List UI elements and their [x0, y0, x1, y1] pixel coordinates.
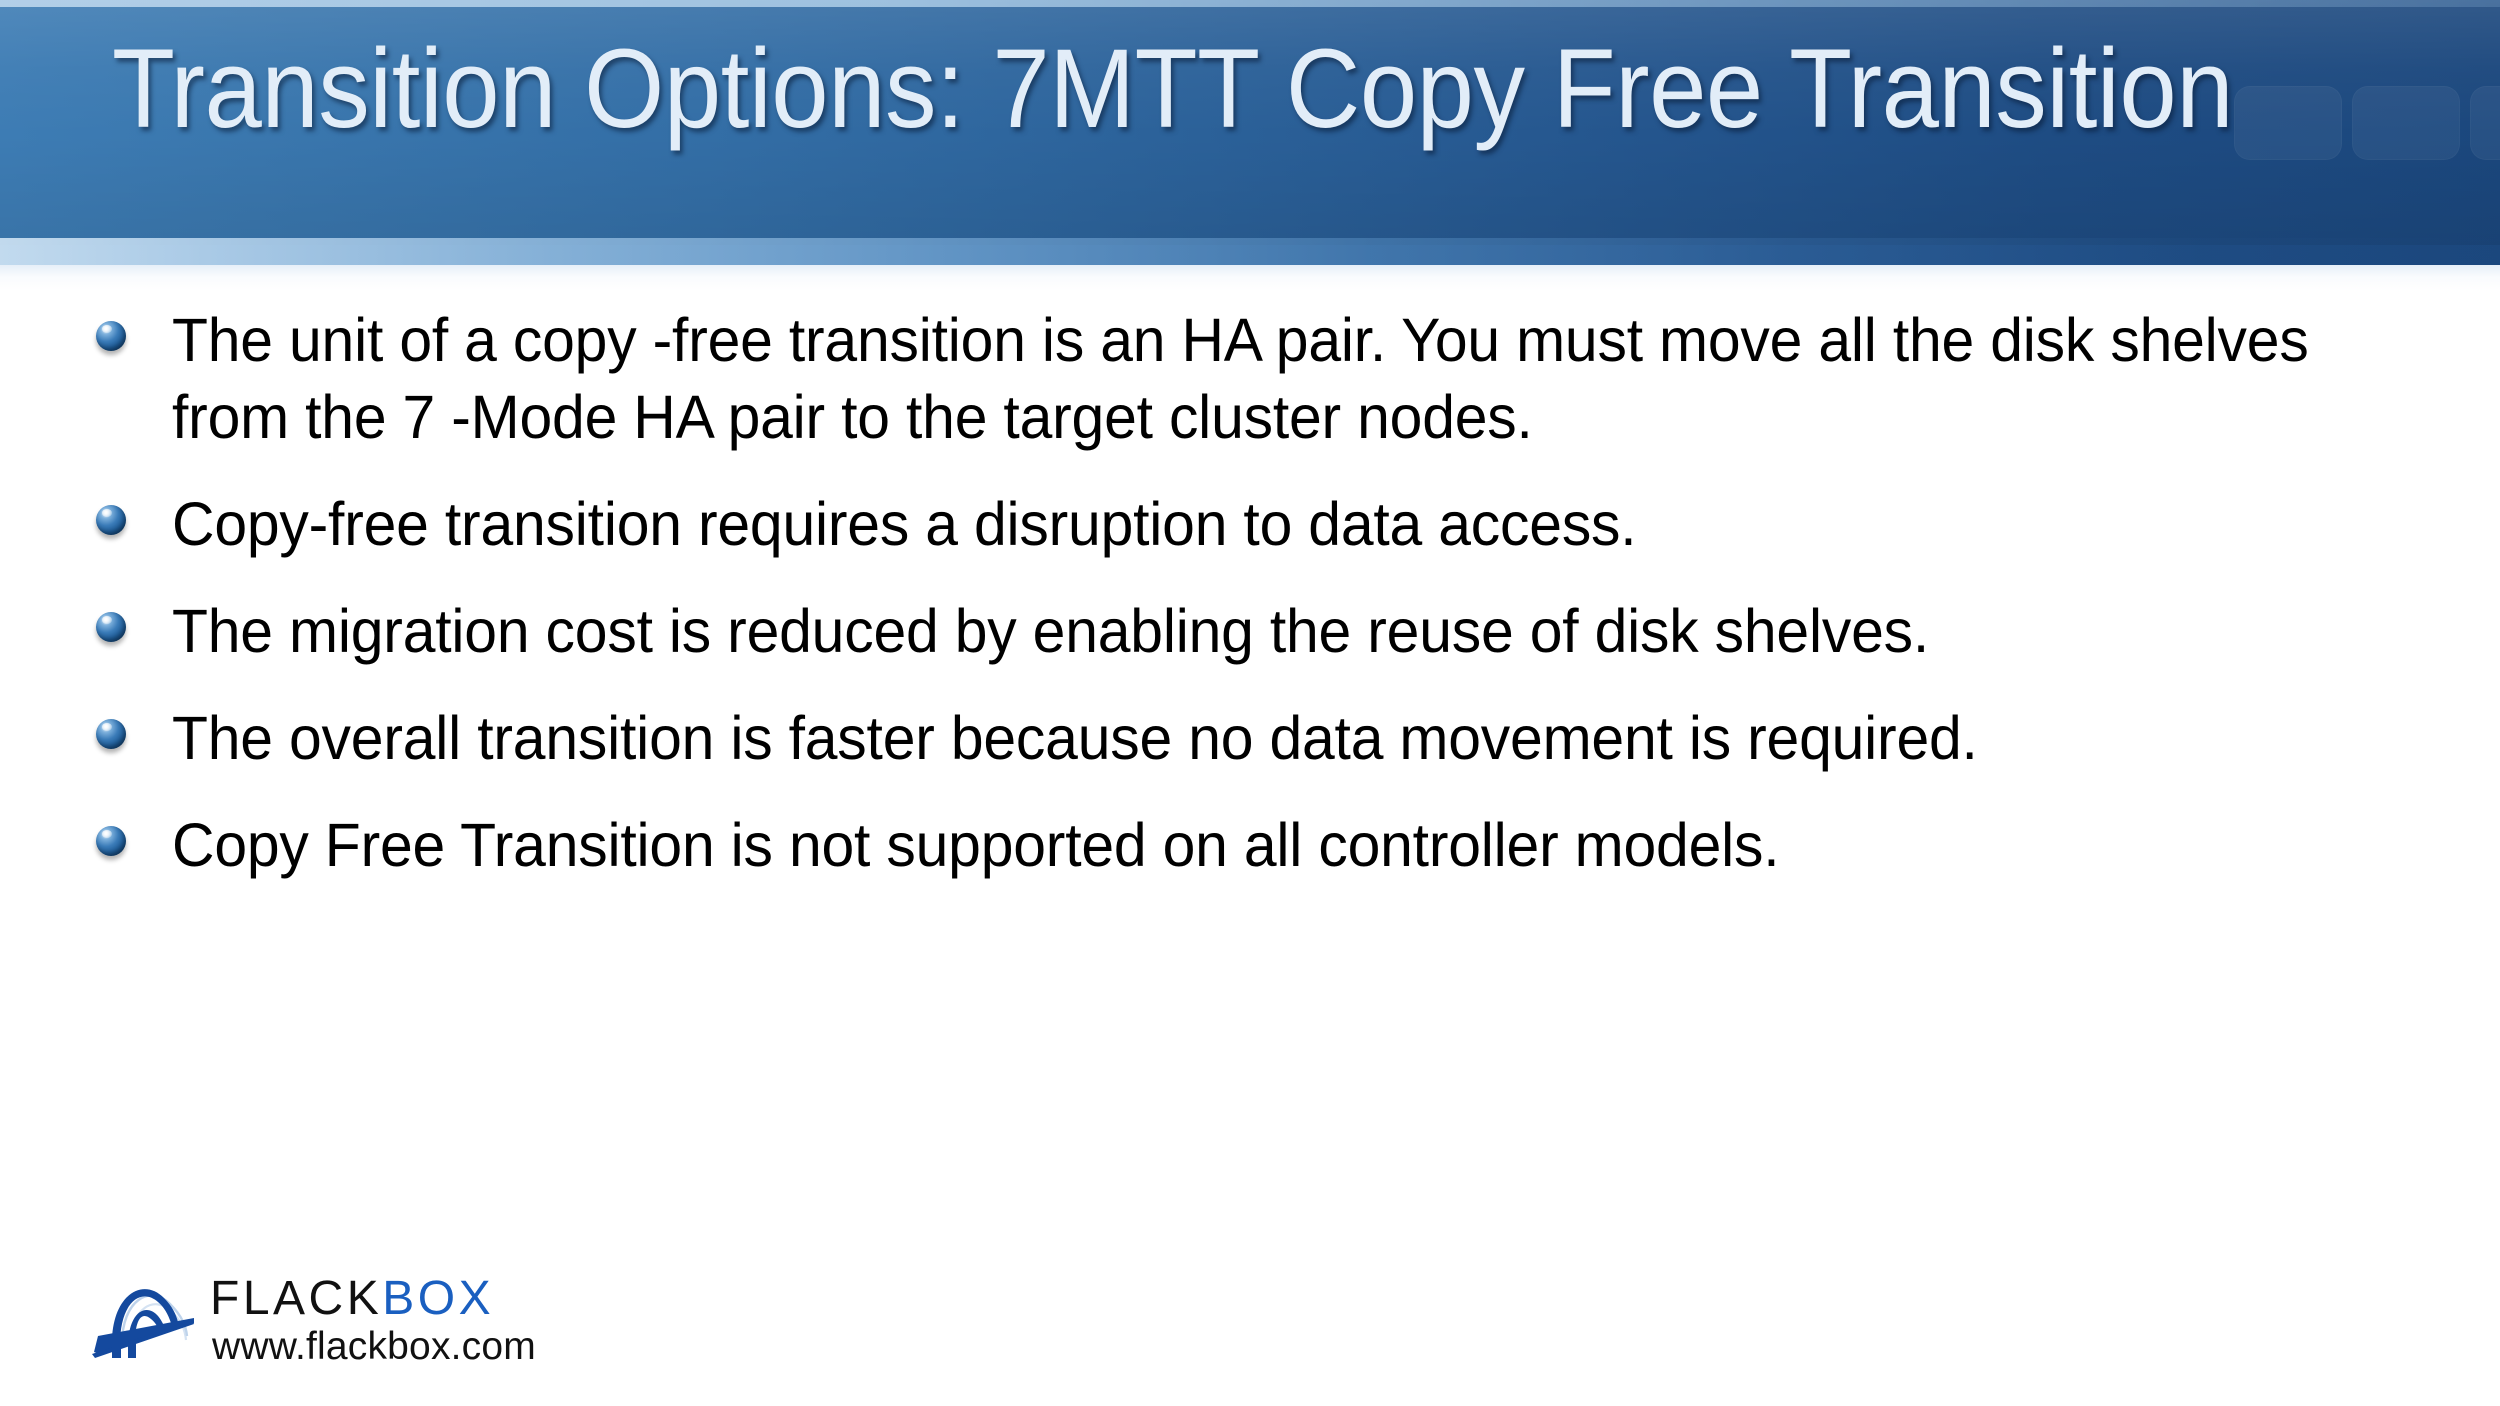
blue-sphere-bullet-icon [96, 505, 126, 535]
flackbox-bridge-icon [92, 1274, 202, 1360]
slide-header-bar: Transition Options: 7MTT Copy Free Trans… [0, 0, 2500, 265]
bullet-text: Copy Free Transition is not supported on… [172, 807, 2339, 884]
header-decorative-tile-1 [2234, 86, 2342, 160]
bullet-text: Copy-free transition requires a disrupti… [172, 486, 2339, 563]
header-decorative-tile-2 [2352, 86, 2460, 160]
slide-bullet-list: The unit of a copy -free transition is a… [88, 302, 2418, 914]
blue-sphere-bullet-icon [96, 826, 126, 856]
logo-word-box: BOX [382, 1272, 494, 1325]
logo-url: www.flackbox.com [212, 1325, 536, 1369]
blue-sphere-bullet-icon [96, 719, 126, 749]
presentation-slide: Transition Options: 7MTT Copy Free Trans… [0, 0, 2500, 1406]
list-item: Copy Free Transition is not supported on… [88, 807, 2418, 884]
list-item: The migration cost is reduced by enablin… [88, 593, 2418, 670]
blue-sphere-bullet-icon [96, 612, 126, 642]
header-top-highlight-line [0, 0, 2500, 7]
flackbox-logo: FLACKBOX www.flackbox.com [92, 1272, 512, 1380]
logo-word-flack: FLACK [210, 1272, 382, 1325]
header-under-fade [0, 265, 2500, 291]
bullet-text: The migration cost is reduced by enablin… [172, 593, 2339, 670]
page-title: Transition Options: 7MTT Copy Free Trans… [112, 26, 2228, 152]
list-item: The overall transition is faster because… [88, 700, 2418, 777]
logo-wordmark: FLACKBOX [210, 1274, 494, 1324]
header-bottom-glow-strip [0, 238, 2500, 265]
bullet-text: The unit of a copy -free transition is a… [172, 302, 2339, 456]
blue-sphere-bullet-icon [96, 321, 126, 351]
header-decorative-tile-3 [2470, 86, 2500, 160]
list-item: The unit of a copy -free transition is a… [88, 302, 2418, 456]
list-item: Copy-free transition requires a disrupti… [88, 486, 2418, 563]
bullet-text: The overall transition is faster because… [172, 700, 2339, 777]
